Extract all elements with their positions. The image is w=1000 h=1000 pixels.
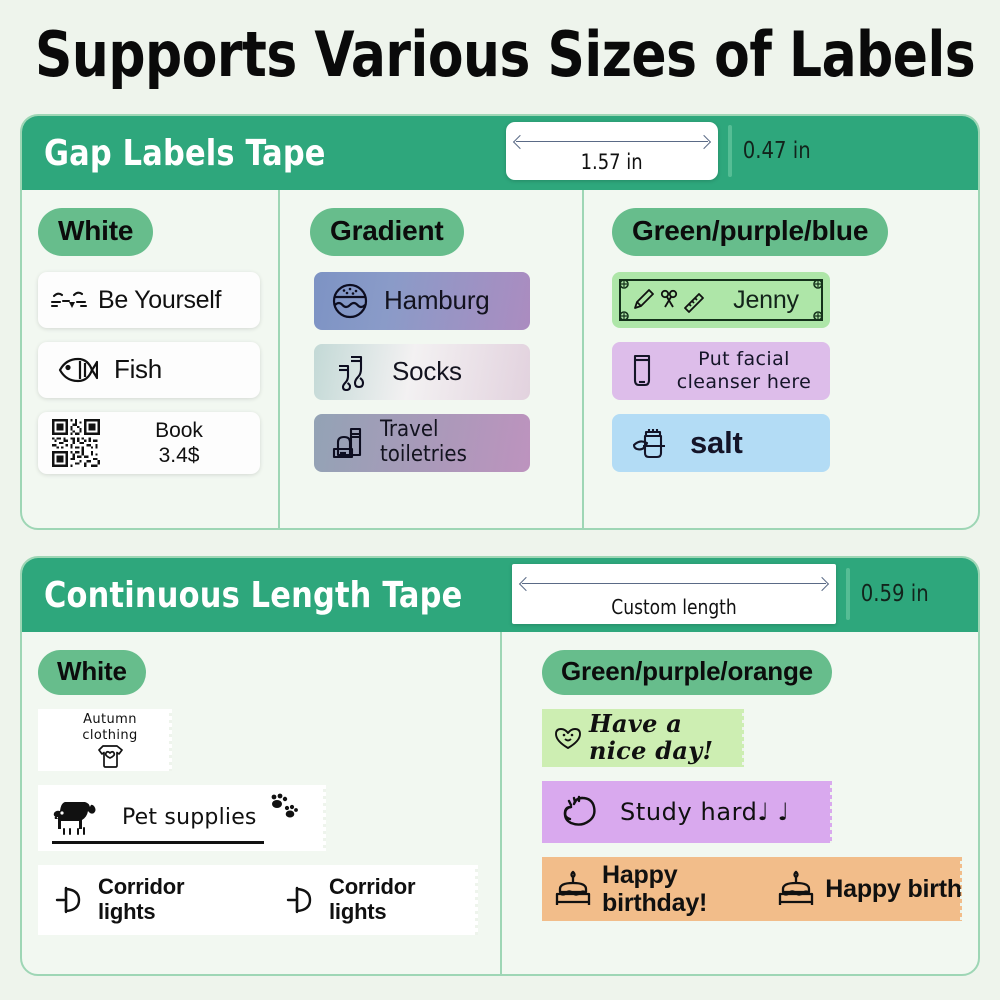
label-text: Hamburg — [384, 286, 490, 315]
label-fish[interactable]: Fish — [38, 342, 260, 398]
label-book[interactable]: Book 3.4$ — [38, 412, 260, 474]
baby-onesie-icon — [94, 743, 126, 768]
label-stack-gap-white: Be Yourself — [38, 272, 278, 474]
height-bar-icon — [846, 568, 850, 620]
column-gap-white: White — [22, 190, 278, 528]
label-have-a-nice-day[interactable]: Have a nice day! — [542, 709, 744, 767]
underline-rule — [52, 841, 264, 844]
column-cont-colored: Green/purple/orange — [500, 632, 978, 974]
label-text-2: Corridor lights — [329, 875, 478, 924]
wall-lamp-icon-2 — [285, 885, 319, 915]
section-header-gap: Gap Labels Tape 1.57 in 0.47 in — [22, 116, 978, 190]
label-text: Happy birthday! — [602, 861, 759, 917]
label-stack-cont-white: Autumn clothing — [38, 709, 500, 935]
label-stack-gradient: Hamburg — [314, 272, 582, 472]
hamburger-icon — [330, 282, 370, 320]
pill-white-continuous: White — [38, 650, 146, 695]
fish-icon — [56, 355, 98, 385]
height-bar-icon — [728, 125, 732, 177]
pill-green-purple-orange: Green/purple/orange — [542, 650, 832, 695]
label-text: Autumn clothing — [82, 712, 137, 743]
label-sizes-infographic: Supports Various Sizes of Labels Gap Lab… — [0, 0, 1000, 1000]
label-text: Socks — [392, 357, 462, 386]
label-be-yourself[interactable]: Be Yourself — [38, 272, 260, 328]
label-text: Book 3.4$ — [114, 418, 260, 468]
cleanser-tube-icon — [628, 351, 656, 391]
dog-icon — [50, 795, 114, 841]
label-facial-cleanser[interactable]: Put facial cleanser here — [612, 342, 830, 400]
label-salt[interactable]: salt — [612, 414, 830, 472]
pill-white-gap: White — [38, 208, 153, 256]
wall-lamp-icon — [54, 885, 88, 915]
label-text: Corridor lights — [98, 875, 247, 924]
measurement-gap: 1.57 in 0.47 in — [506, 122, 813, 180]
column-gap-gradient: Gradient — [278, 190, 582, 528]
tape-width-value-continuous: Custom length — [611, 595, 736, 624]
continuous-columns: White Autumn clothing — [22, 632, 978, 974]
label-jenny[interactable]: Jenny — [612, 272, 830, 328]
label-autumn-clothing[interactable]: Autumn clothing — [38, 709, 172, 771]
section-gap-labels-tape: Gap Labels Tape 1.57 in 0.47 in White — [20, 114, 980, 530]
label-study-hard[interactable]: Study hard♩ ♩ — [542, 781, 832, 843]
label-text: Pet supplies — [122, 806, 257, 831]
muscle-arm-icon — [560, 791, 606, 833]
tape-height-continuous: 0.59 in — [846, 568, 931, 620]
label-text: salt — [690, 426, 743, 461]
label-text: Have a nice day! — [589, 711, 744, 765]
label-stack-colored: Jenny Put facial cleanse — [612, 272, 978, 472]
pencil-scissors-ruler-icon — [629, 287, 711, 313]
label-text: Put facial cleanser here — [666, 348, 830, 394]
paw-prints-icon — [265, 793, 299, 823]
tape-height-gap: 0.47 in — [728, 125, 813, 177]
birthday-cake-icon — [552, 869, 594, 909]
label-text: Be Yourself — [98, 286, 221, 314]
tape-width-sample-gap: 1.57 in — [506, 122, 718, 180]
tape-height-value-gap: 0.47 in — [743, 138, 811, 164]
page-title: Supports Various Sizes of Labels — [35, 18, 965, 91]
width-arrow-icon — [516, 141, 708, 142]
label-text: Fish — [114, 355, 162, 384]
kaomoji-face-icon — [50, 288, 90, 312]
section-header-continuous: Continuous Length Tape Custom length 0.5… — [22, 558, 978, 632]
label-text: Travel toiletries — [380, 418, 530, 467]
measurement-continuous: Custom length 0.59 in — [512, 564, 931, 624]
label-happy-birthday[interactable]: Happy birthday! — [542, 857, 962, 921]
label-travel-toiletries[interactable]: Travel toiletries — [314, 414, 530, 472]
section-continuous-length-tape: Continuous Length Tape Custom length 0.5… — [20, 556, 980, 976]
tape-width-sample-continuous: Custom length — [512, 564, 836, 624]
salt-shaker-icon — [630, 423, 674, 463]
ornate-frame-icon: Jenny — [619, 279, 823, 321]
label-stack-cont-colored: Have a nice day! — [542, 709, 978, 921]
section-title-gap: Gap Labels Tape — [44, 133, 326, 174]
qr-code-icon — [52, 419, 100, 467]
width-arrow-icon — [522, 583, 826, 584]
pill-gradient: Gradient — [310, 208, 464, 256]
label-text: Study hard♩ ♩ — [620, 799, 790, 826]
column-cont-white: White Autumn clothing — [22, 632, 500, 974]
toiletries-icon — [330, 423, 372, 463]
label-text-2: Happy birth — [825, 875, 962, 903]
label-corridor-lights[interactable]: Corridor lights Corridor lights — [38, 865, 478, 935]
tape-width-value-gap: 1.57 in — [581, 150, 643, 180]
label-pet-supplies[interactable]: Pet supplies — [38, 785, 326, 851]
pill-green-purple-blue: Green/purple/blue — [612, 208, 888, 256]
label-hamburg[interactable]: Hamburg — [314, 272, 530, 330]
column-gap-colored: Green/purple/blue — [582, 190, 978, 528]
label-socks[interactable]: Socks — [314, 344, 530, 400]
label-text: Jenny — [717, 286, 821, 314]
heart-smile-icon — [554, 725, 582, 751]
section-title-continuous: Continuous Length Tape — [44, 575, 462, 616]
socks-icon — [334, 353, 372, 391]
tape-height-value-continuous: 0.59 in — [861, 581, 929, 607]
gap-columns: White — [22, 190, 978, 528]
birthday-cake-icon-2 — [775, 869, 817, 909]
